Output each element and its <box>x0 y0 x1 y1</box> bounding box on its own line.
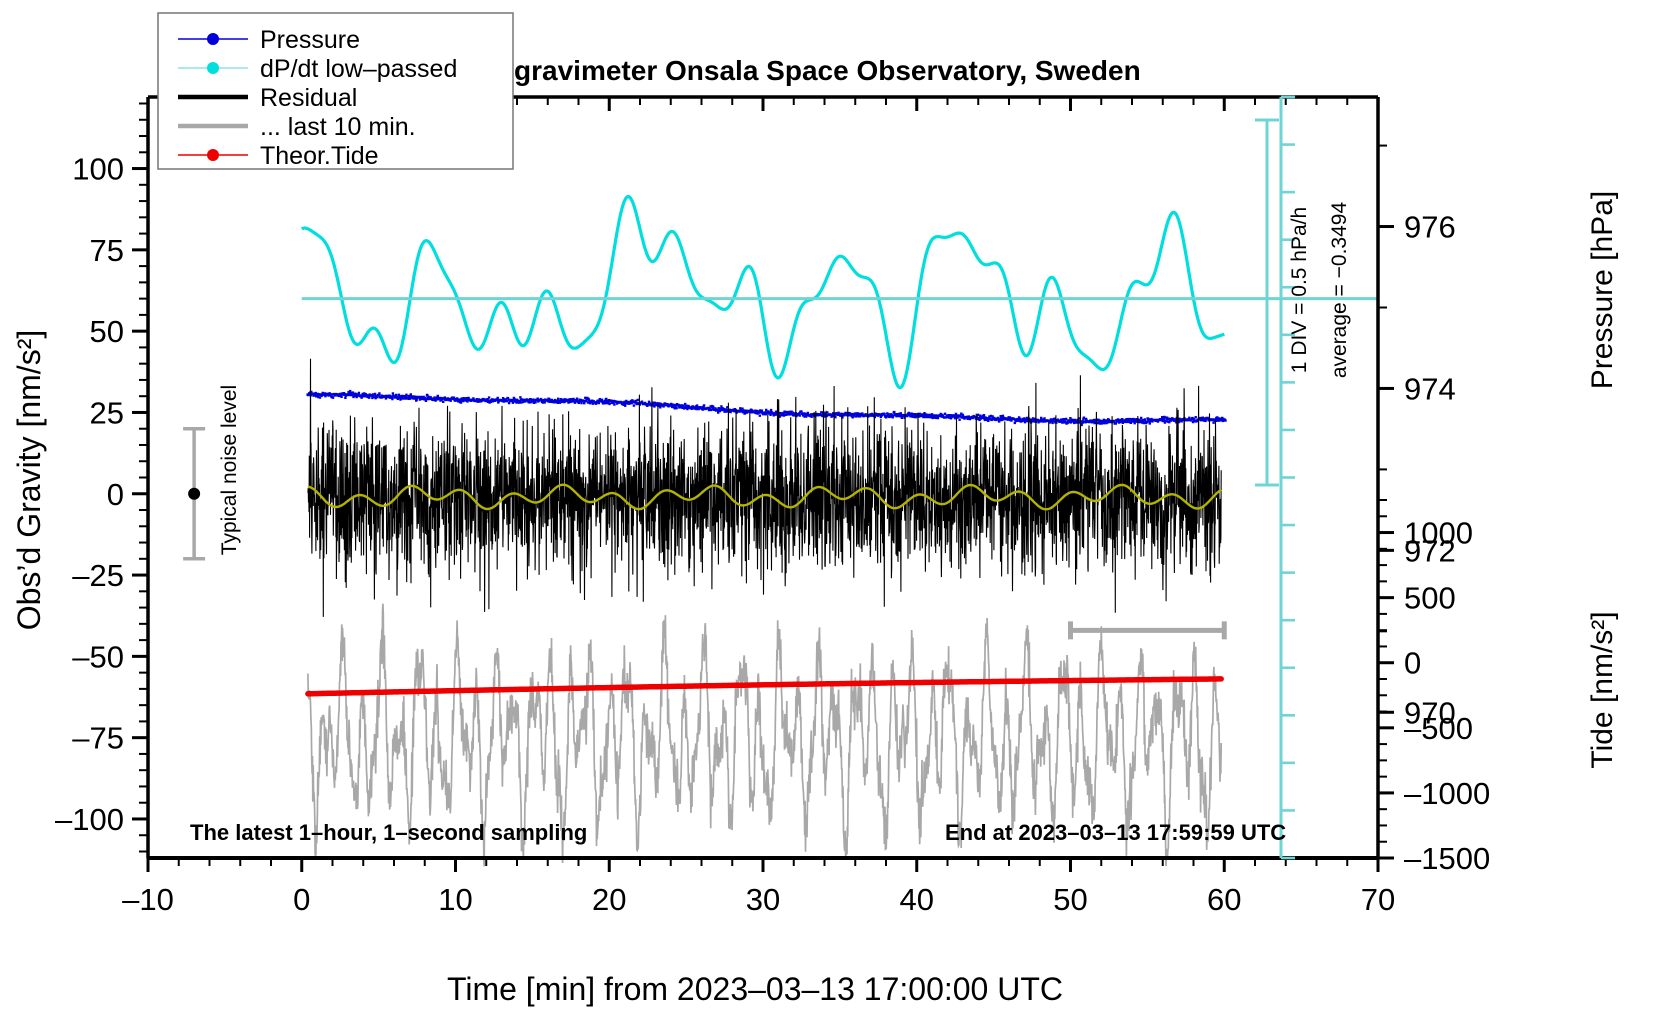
gravimeter-chart: –10010203040506070–100–75–50–25025507510… <box>0 0 1660 1020</box>
pressure-tick-label: 976 <box>1404 210 1456 245</box>
legend-label-pressure: Pressure <box>260 26 360 54</box>
x-tick-label: 60 <box>1207 882 1241 917</box>
footer-left-note: The latest 1–hour, 1–second sampling <box>190 820 587 845</box>
y-tick-label: 75 <box>90 233 124 268</box>
x-tick-label: 0 <box>293 882 310 917</box>
x-tick-label: 50 <box>1053 882 1087 917</box>
y-tick-label: 100 <box>72 152 124 187</box>
legend-label-last10: ... last 10 min. <box>260 113 416 141</box>
x-axis-title: Time [min] from 2023–03–13 17:00:00 UTC <box>447 971 1063 1007</box>
noise-bar-center-dot <box>188 488 200 500</box>
dpdt-average-annotation: average = −0.3494 <box>1328 202 1351 379</box>
y-tick-label: –50 <box>72 639 124 674</box>
x-tick-label: –10 <box>122 882 174 917</box>
y-tick-label: –75 <box>72 721 124 756</box>
pressure-tick-label: 974 <box>1404 371 1456 406</box>
typical-noise-level-label: Typical noise level <box>218 385 241 555</box>
tide-tick-label: 1000 <box>1404 516 1473 551</box>
y-tick-label: –100 <box>55 802 124 837</box>
tide-tick-label: 0 <box>1404 646 1421 681</box>
x-tick-label: 20 <box>592 882 626 917</box>
legend-dot-pressure <box>207 33 219 45</box>
x-tick-label: 70 <box>1361 882 1395 917</box>
legend-dot-tide <box>207 149 219 161</box>
y-tick-label: –25 <box>72 558 124 593</box>
x-tick-label: 10 <box>438 882 472 917</box>
tide-tick-label: 500 <box>1404 581 1456 616</box>
legend-label-tide: Theor.Tide <box>260 142 379 170</box>
footer-right-note: End at 2023–03–13 17:59:59 UTC <box>945 820 1286 845</box>
y-tick-label: 50 <box>90 314 124 349</box>
legend-label-dpdt: dP/dt low–passed <box>260 55 457 83</box>
tide-tick-label: –1000 <box>1404 776 1490 811</box>
legend-dot-dpdt <box>207 62 219 74</box>
y-tick-label: 25 <box>90 395 124 430</box>
y-axis-title: Obs’d Gravity [nm/s²] <box>11 330 47 631</box>
tide-tick-label: –500 <box>1404 711 1473 746</box>
legend-label-residual: Residual <box>260 84 357 112</box>
right-top-axis-title: Pressure [hPa] <box>1586 191 1619 389</box>
chart-legend[interactable]: Pressure dP/dt low–passed Residual ... l… <box>158 13 513 170</box>
x-tick-label: 30 <box>746 882 780 917</box>
div-scale-annotation: 1 DIV = 0.5 hPa/h <box>1288 207 1311 373</box>
right-bottom-axis-title: Tide [nm/s²] <box>1586 611 1619 768</box>
x-tick-label: 40 <box>900 882 934 917</box>
gravimeter-plot-page: –10010203040506070–100–75–50–25025507510… <box>0 0 1660 1020</box>
tide-tick-label: –1500 <box>1404 841 1490 876</box>
y-tick-label: 0 <box>107 477 124 512</box>
